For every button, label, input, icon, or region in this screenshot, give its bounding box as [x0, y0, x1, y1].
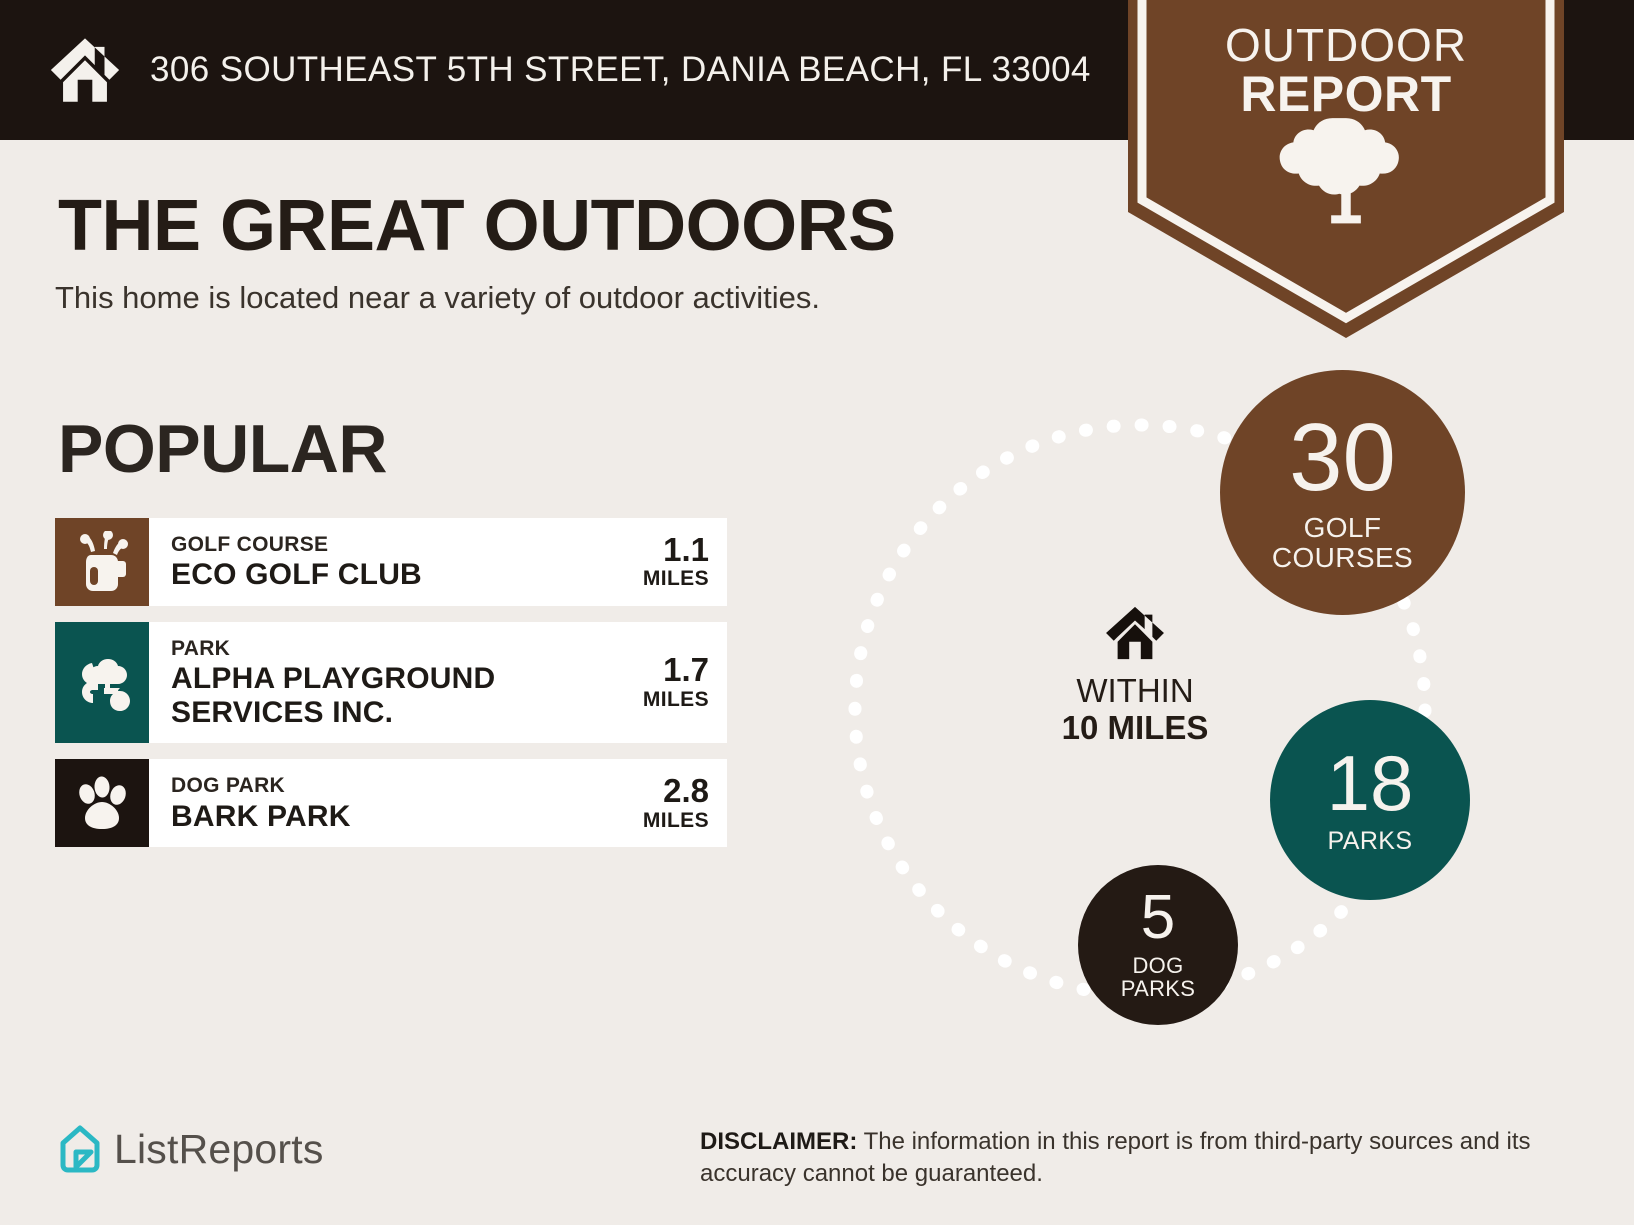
list-item-distance: 2.8 MILES [617, 774, 709, 833]
property-address: 306 SOUTHEAST 5TH STREET, DANIA BEACH, F… [150, 50, 1091, 90]
stat-parks: 18 PARKS [1270, 700, 1470, 900]
list-item[interactable]: GOLF COURSE ECO GOLF CLUB 1.1 MILES [55, 518, 727, 606]
list-item-body: DOG PARK BARK PARK 2.8 MILES [149, 759, 727, 847]
center-line-1: WITHIN [1035, 673, 1235, 710]
section-heading-popular: POPULAR [58, 410, 387, 488]
golf-bag-icon-tile [55, 518, 149, 606]
stat-value: 30 [1289, 412, 1396, 503]
list-item-name: ECO GOLF CLUB [171, 558, 422, 592]
paw-print-icon [73, 774, 131, 832]
park-tree-path-icon [72, 653, 132, 713]
distance-value: 2.8 [617, 774, 709, 809]
disclaimer-label: DISCLAIMER: [700, 1128, 857, 1155]
outdoor-stats-diagram: 30 GOLF COURSES 18 PARKS 5 DOG PARKS WIT… [830, 360, 1530, 1060]
stat-value: 18 [1327, 746, 1414, 820]
distance-value: 1.1 [617, 533, 709, 568]
stat-label-line1: PARKS [1328, 828, 1413, 855]
dog-park-icon-tile [55, 759, 149, 847]
outdoor-report-badge: OUTDOOR REPORT [1128, 0, 1564, 340]
home-icon [46, 31, 124, 109]
park-icon-tile [55, 622, 149, 743]
listreports-house-icon [58, 1124, 102, 1174]
home-icon [1104, 605, 1166, 661]
distance-value: 1.7 [617, 653, 709, 688]
list-item-distance: 1.7 MILES [617, 653, 709, 712]
diagram-center: WITHIN 10 MILES [1035, 605, 1235, 747]
list-item-name: ALPHA PLAYGROUND SERVICES INC. [171, 662, 601, 729]
stat-label-line2: COURSES [1272, 542, 1413, 573]
list-item-body: GOLF COURSE ECO GOLF CLUB 1.1 MILES [149, 518, 727, 606]
stat-value: 5 [1141, 889, 1175, 948]
list-item-category: GOLF COURSE [171, 532, 422, 558]
disclaimer: DISCLAIMER: The information in this repo… [700, 1126, 1600, 1190]
popular-list: GOLF COURSE ECO GOLF CLUB 1.1 MILES PARK… [55, 518, 727, 863]
stat-golf-courses: 30 GOLF COURSES [1220, 370, 1465, 615]
list-item-category: DOG PARK [171, 773, 351, 799]
center-line-2: 10 MILES [1035, 710, 1235, 747]
distance-unit: MILES [617, 567, 709, 591]
list-item-name: BARK PARK [171, 800, 351, 834]
stat-label-line1: DOG [1132, 953, 1183, 978]
golf-bag-icon [73, 531, 131, 593]
stat-label-line2: PARKS [1121, 976, 1195, 1001]
brand-name: ListReports [114, 1126, 324, 1173]
page-title: THE GREAT OUTDOORS [58, 185, 896, 267]
badge-shield-shape [1128, 0, 1564, 340]
page-subtitle: This home is located near a variety of o… [55, 280, 820, 316]
list-item[interactable]: PARK ALPHA PLAYGROUND SERVICES INC. 1.7 … [55, 622, 727, 743]
list-item-distance: 1.1 MILES [617, 533, 709, 592]
listreports-logo[interactable]: ListReports [58, 1124, 324, 1174]
stat-dog-parks: 5 DOG PARKS [1078, 865, 1238, 1025]
distance-unit: MILES [617, 809, 709, 833]
distance-unit: MILES [617, 688, 709, 712]
list-item[interactable]: DOG PARK BARK PARK 2.8 MILES [55, 759, 727, 847]
list-item-body: PARK ALPHA PLAYGROUND SERVICES INC. 1.7 … [149, 622, 727, 743]
stat-label-line1: GOLF [1304, 512, 1382, 543]
list-item-category: PARK [171, 636, 601, 662]
